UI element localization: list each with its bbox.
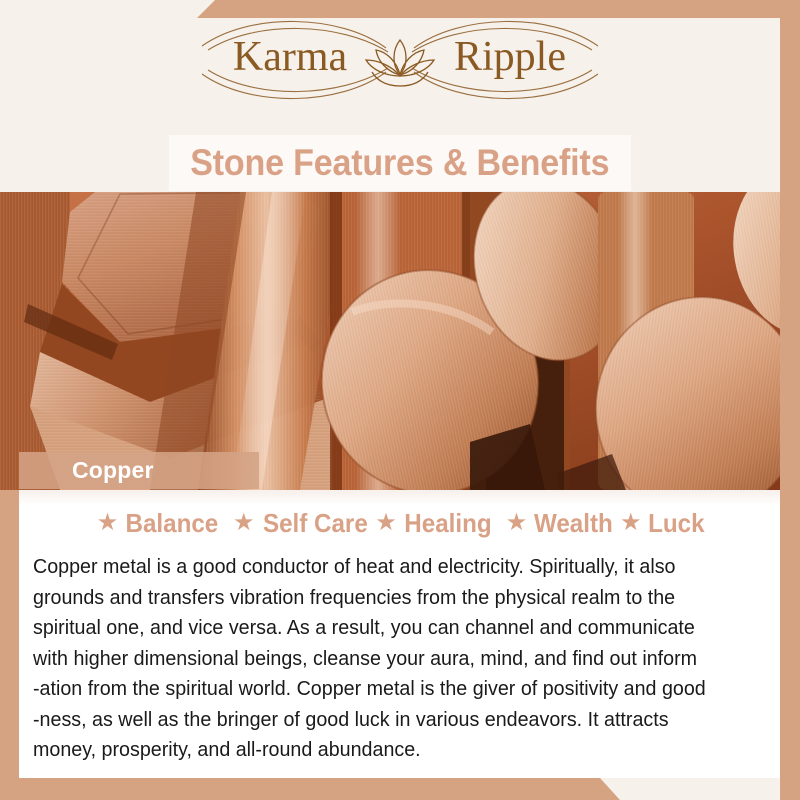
feature-healing: Healing bbox=[404, 508, 491, 539]
title-banner: Stone Features & Benefits bbox=[0, 132, 800, 194]
feature-luck: Luck bbox=[648, 508, 704, 539]
infographic-page: Karma Ripple Stone Features & Benefits bbox=[0, 0, 800, 800]
title-box: Stone Features & Benefits bbox=[169, 135, 631, 191]
brand-logo: Karma Ripple bbox=[0, 0, 800, 120]
star-icon: ★ bbox=[371, 508, 401, 537]
photo-caption-text: Copper bbox=[19, 457, 154, 484]
description-line: Copper metal is a good conductor of heat… bbox=[33, 552, 741, 583]
frame-border-left bbox=[0, 490, 19, 800]
description-line: spiritual one, and vice versa. As a resu… bbox=[33, 613, 741, 644]
feature-wealth: Wealth bbox=[534, 508, 613, 539]
brand-word-left: Karma bbox=[233, 34, 348, 80]
feature-balance: Balance bbox=[126, 508, 219, 539]
description-line: with higher dimensional beings, cleanse … bbox=[33, 644, 741, 675]
star-icon: ★ bbox=[93, 508, 123, 537]
frame-border-right bbox=[780, 0, 800, 800]
features-row: ★ Balance ★ Self Care ★ Healing ★ Wealth… bbox=[19, 508, 780, 539]
lotus-flower-icon bbox=[366, 40, 434, 86]
description-line: -ness, as well as the bringer of good lu… bbox=[33, 705, 741, 736]
copper-bars-photo bbox=[0, 192, 800, 490]
card-top-fade bbox=[19, 490, 780, 506]
photo-caption: Copper bbox=[19, 452, 259, 489]
star-icon: ★ bbox=[502, 508, 532, 537]
copper-photo-art bbox=[0, 192, 800, 490]
page-title: Stone Features & Benefits bbox=[190, 142, 609, 184]
description-line: grounds and transfers vibration frequenc… bbox=[33, 583, 741, 614]
brand-word-right: Ripple bbox=[454, 34, 566, 80]
description-line: -ation from the spiritual world. Copper … bbox=[33, 674, 741, 705]
description-text: Copper metal is a good conductor of heat… bbox=[33, 552, 741, 766]
feature-self-care: Self Care bbox=[262, 508, 367, 539]
star-icon: ★ bbox=[616, 508, 646, 537]
brand-logo-svg: Karma Ripple bbox=[190, 12, 610, 108]
frame-border-bottom bbox=[0, 778, 800, 800]
description-line: money, prosperity, and all-round abundan… bbox=[33, 735, 741, 766]
content-card: ★ Balance ★ Self Care ★ Healing ★ Wealth… bbox=[19, 490, 780, 778]
star-icon: ★ bbox=[229, 508, 259, 537]
